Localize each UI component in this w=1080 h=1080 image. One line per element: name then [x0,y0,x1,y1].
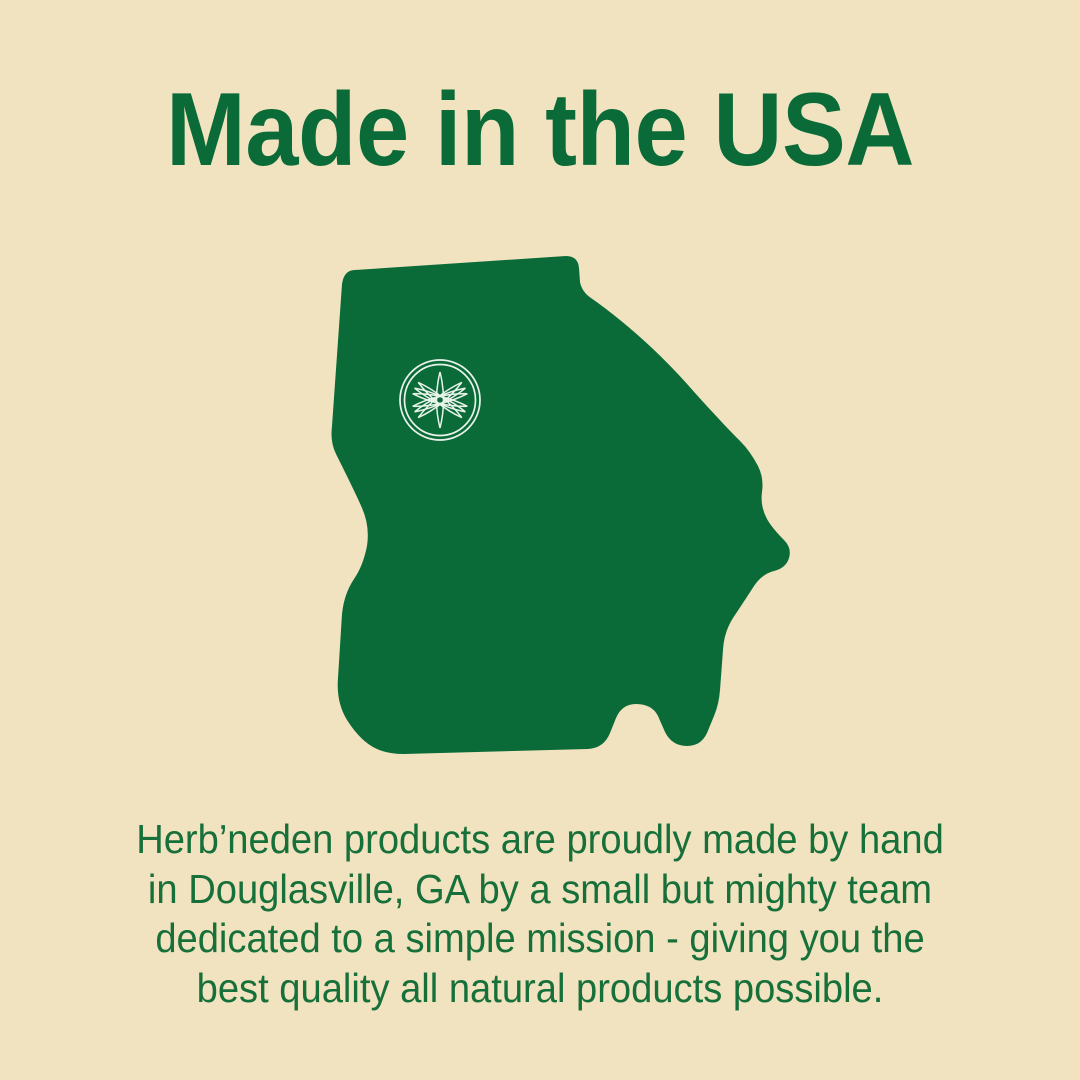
description-text: Herb’neden products are proudly made by … [94,815,987,1013]
made-in-usa-poster: Made in the USA [0,0,1080,1080]
description-line-1: Herb’neden products are proudly made by … [94,815,987,865]
georgia-map-svg [330,246,810,761]
description-line-2: in Douglasville, GA by a small but might… [94,865,987,915]
description-line-3: dedicated to a simple mission - giving y… [94,914,987,964]
georgia-shape [332,256,790,754]
description-line-4: best quality all natural products possib… [94,964,987,1014]
page-title: Made in the USA [43,74,1037,186]
georgia-state-map [330,246,810,761]
